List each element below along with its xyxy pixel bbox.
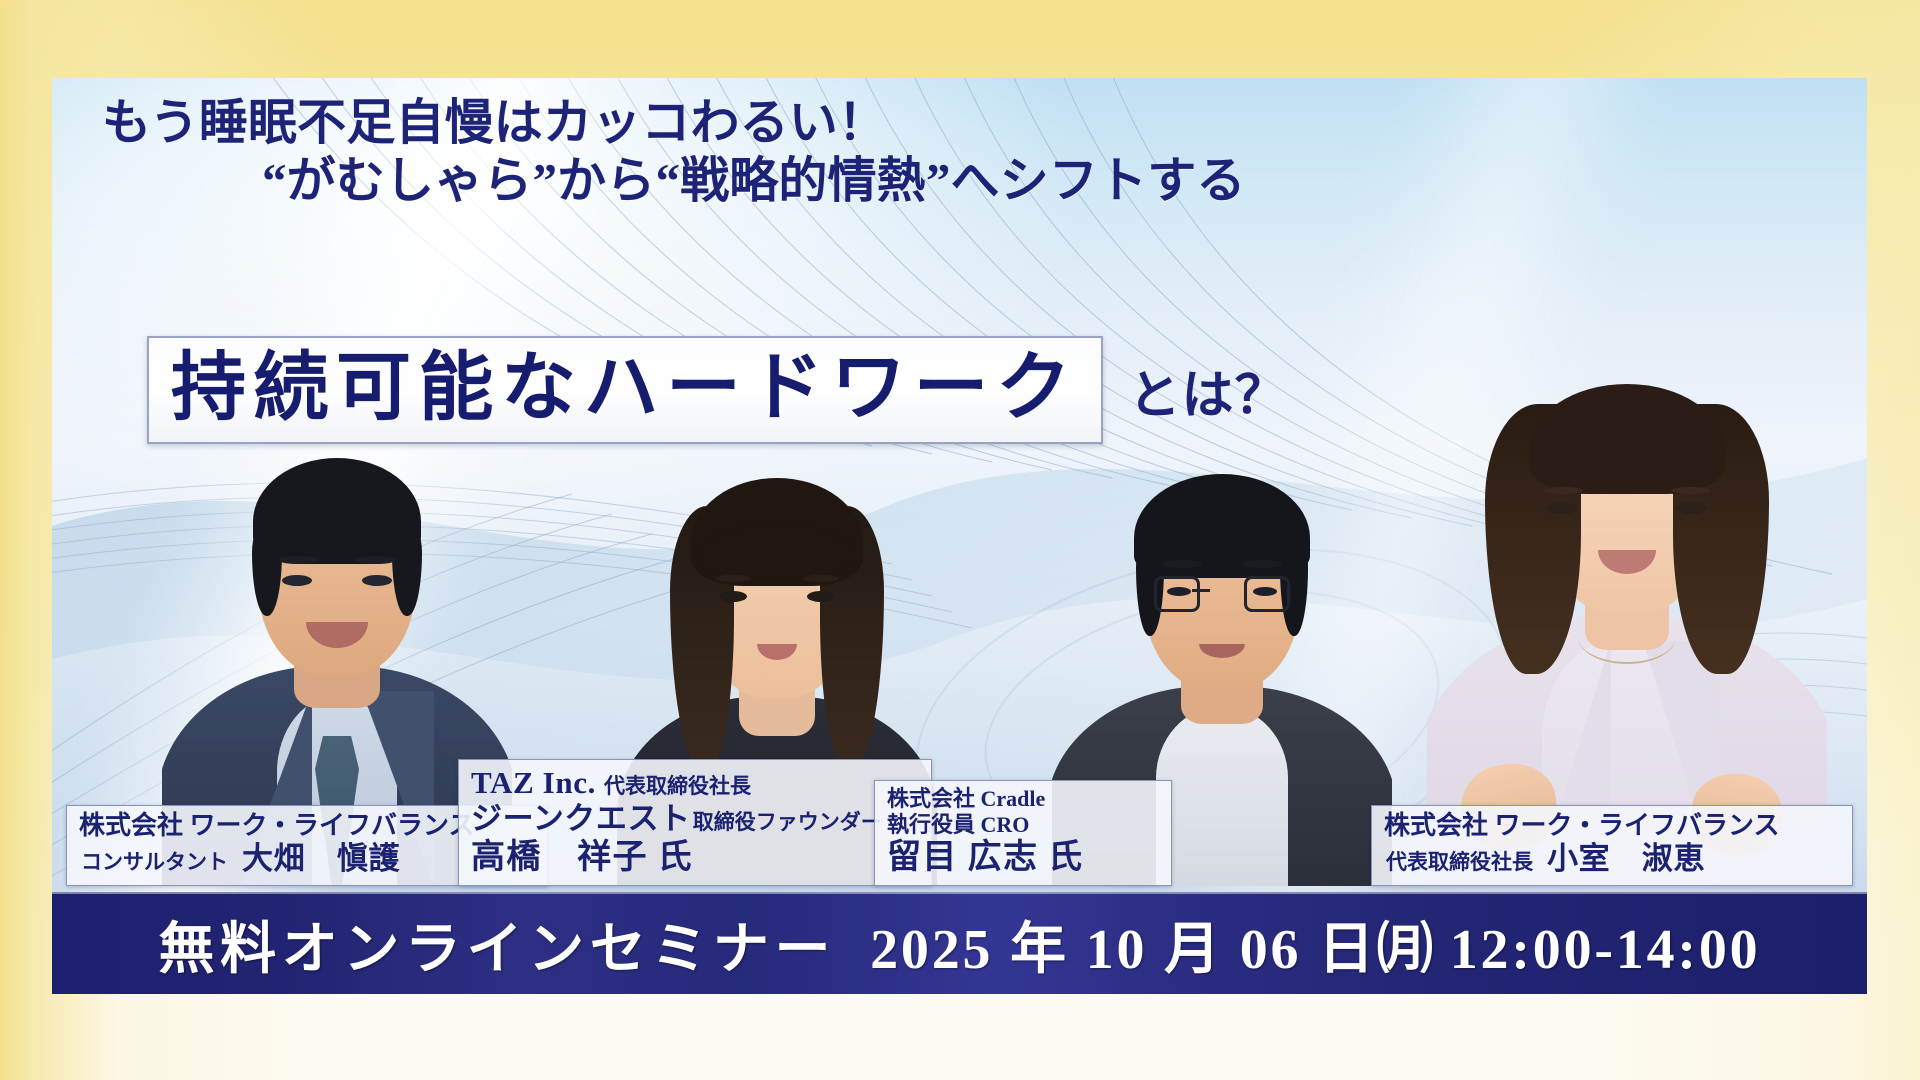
footer-bar: 無料オンラインセミナー2025 年 10 月 06 日㈪12:00-14:00 [52,892,1867,994]
portrait-brow-right [1242,560,1282,568]
portrait-brow-left [1162,560,1202,568]
portrait-shirt [1156,706,1288,886]
footer-date: 2025 年 10 月 06 日㈪ [870,919,1436,981]
portrait-eye-right [807,591,835,602]
seminar-banner: もう睡眠不足自慢はカッコわるい！ “がむしゃら”から“戦略的情熱”へシフトする … [52,78,1867,994]
nameplate-2-org-suffix: 代表取締役社長 [604,774,751,799]
main-title-row: 持続可能なハードワーク とは？ [147,336,1288,444]
nameplate-2-name: 高橋 祥子 氏 [471,838,919,878]
nameplate-4-name-line: 代表取締役社長 小室 淑恵 [1384,841,1840,878]
nameplate-4-org: 株式会社 ワーク・ライフバランス [1384,811,1840,842]
nameplate-1-name: 大畑 愼護 [242,841,400,878]
main-title-text: 持続可能なハードワーク [171,351,1079,426]
nameplate-3-org: 株式会社 Cradle [887,786,1159,812]
portrait-brow-right [356,556,396,564]
footer-text: 無料オンラインセミナー2025 年 10 月 06 日㈪12:00-14:00 [159,904,1761,985]
necklace-icon [1578,610,1676,664]
main-title-suffix: とは？ [1129,353,1288,428]
kicker-line-1: もう睡眠不足自慢はカッコわるい！ [52,96,1552,151]
nameplate-2-org2-suffix: 取締役ファウンダー [693,810,882,835]
nameplate-speaker-4: 株式会社 ワーク・ライフバランス 代表取締役社長 小室 淑恵 [1371,805,1853,886]
nameplate-2-org: TAZ Inc. [471,765,596,802]
nameplate-3-role: 執行役員 CRO [887,812,1159,838]
footer-event-type: 無料オンラインセミナー [159,919,837,981]
portrait-brow-left [1543,487,1583,494]
speaker-photo-4 [1427,246,1827,886]
portrait-brow-left [715,575,751,582]
nameplate-speaker-2: TAZ Inc. 代表取締役社長 ジーンクエスト 取締役ファウンダー 高橋 祥子… [458,759,932,886]
nameplate-2-org-line: TAZ Inc. 代表取締役社長 [471,765,919,802]
portrait-brow-left [278,556,318,564]
kicker-line-2: “がむしゃら”から“戦略的情熱”へシフトする [52,151,1552,211]
nameplate-1-role: コンサルタント [81,850,228,875]
headline-block: もう睡眠不足自慢はカッコわるい！ “がむしゃら”から“戦略的情熱”へシフトする [52,96,1552,211]
portrait-eye-left [1167,587,1191,596]
portrait-eye-left [719,591,747,602]
portrait-eye-right [1677,502,1707,514]
main-title-box: 持続可能なハードワーク [147,336,1103,444]
portrait-komuro [1427,246,1827,886]
portrait-brow-right [1671,487,1711,494]
nameplate-speaker-3: 株式会社 Cradle 執行役員 CRO 留目 広志 氏 [874,780,1172,886]
portrait-eye-right [362,575,392,586]
footer-time: 12:00-14:00 [1450,919,1761,981]
portrait-eye-right [1253,587,1277,596]
nameplate-2-org2: ジーンクエスト [471,801,691,838]
portrait-brow-right [803,575,839,582]
page-root: もう睡眠不足自慢はカッコわるい！ “がむしゃら”から“戦略的情熱”へシフトする … [0,0,1920,1080]
nameplate-4-name: 小室 淑恵 [1547,841,1705,878]
nameplate-3-name: 留目 広志 氏 [887,838,1159,878]
portrait-eye-left [1547,502,1577,514]
portrait-eye-left [282,575,312,586]
portrait-hair-side-right [392,520,422,616]
nameplate-2-org2-line: ジーンクエスト 取締役ファウンダー [471,801,919,838]
nameplate-4-role: 代表取締役社長 [1386,850,1533,875]
